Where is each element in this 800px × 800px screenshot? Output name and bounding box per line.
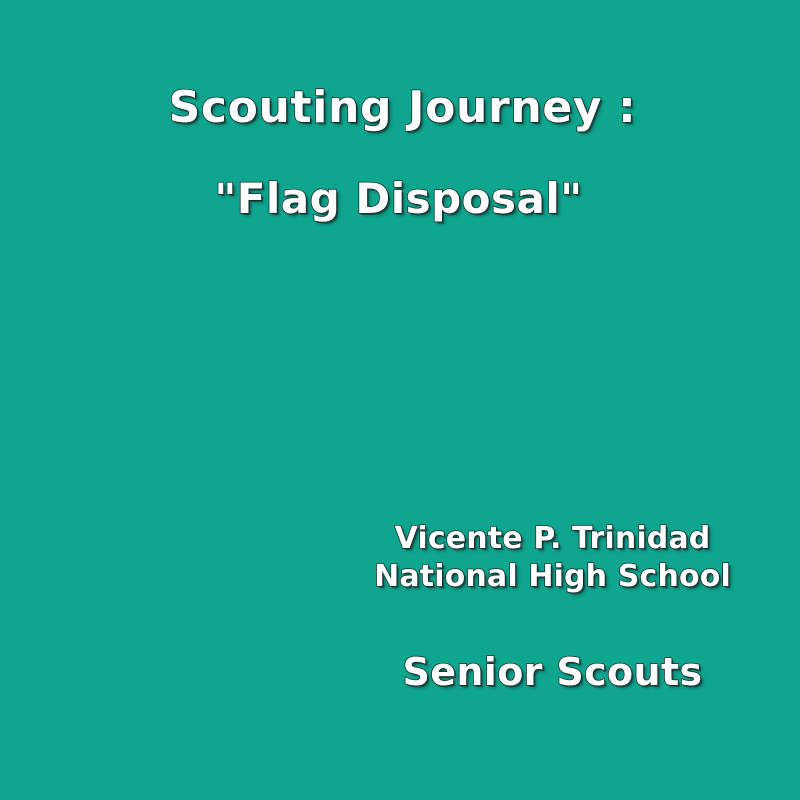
school-name-line-2: National High School — [330, 558, 775, 596]
slide-title-line-1: Scouting Journey : — [0, 84, 800, 132]
attribution-block: Vicente P. Trinidad National High School — [330, 520, 775, 597]
scout-unit-label: Senior Scouts — [330, 652, 775, 693]
slide-canvas: Scouting Journey : "Flag Disposal" Vicen… — [0, 0, 800, 800]
school-name-line-1: Vicente P. Trinidad — [330, 520, 775, 558]
empty-content-band — [0, 250, 800, 515]
slide-title-line-2: "Flag Disposal" — [0, 176, 797, 221]
title-block: Scouting Journey : "Flag Disposal" — [0, 84, 800, 254]
